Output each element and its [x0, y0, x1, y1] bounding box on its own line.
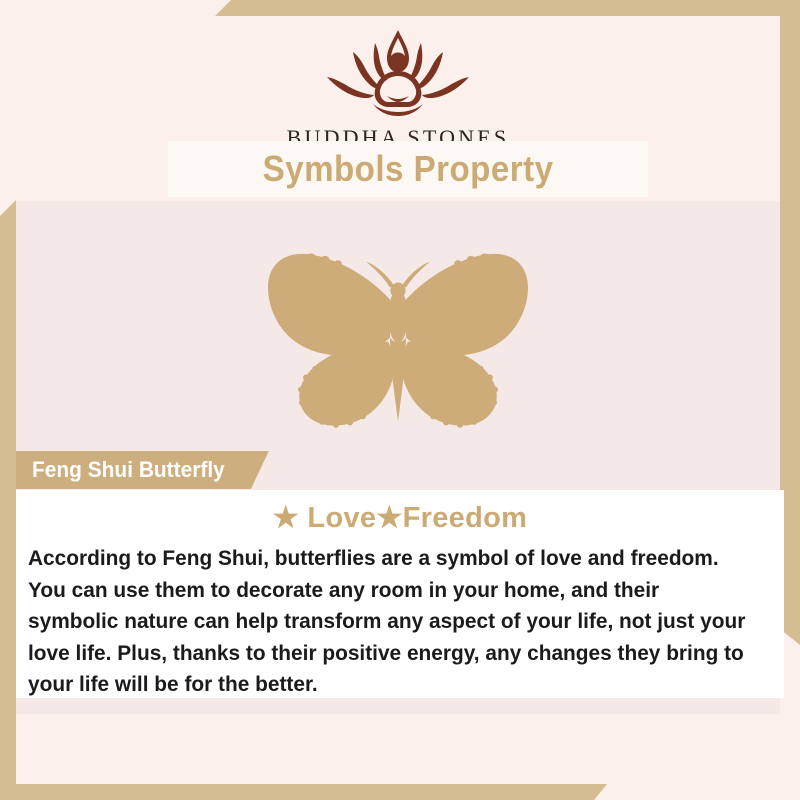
decor-bar-left: [0, 200, 16, 800]
page-title: Symbols Property: [263, 148, 554, 190]
section-ribbon: Feng Shui Butterfly: [16, 451, 269, 489]
decor-bar-top: [215, 0, 800, 16]
content-paragraph: According to Feng Shui, butterflies are …: [28, 543, 750, 701]
content-card: ★ Love★Freedom According to Feng Shui, b…: [16, 490, 784, 698]
butterfly-icon: [218, 221, 578, 436]
ribbon-label: Feng Shui Butterfly: [32, 457, 225, 483]
content-headline: ★ Love★Freedom: [16, 504, 784, 533]
title-band: Symbols Property: [168, 141, 648, 197]
poster-canvas: BUDDHA STONES Symbols Property: [0, 0, 800, 800]
lotus-meditation-icon: [313, 26, 483, 121]
hero-image-zone: [16, 201, 780, 456]
brand-logo: BUDDHA STONES: [16, 26, 780, 149]
footer-zone: [16, 714, 780, 784]
